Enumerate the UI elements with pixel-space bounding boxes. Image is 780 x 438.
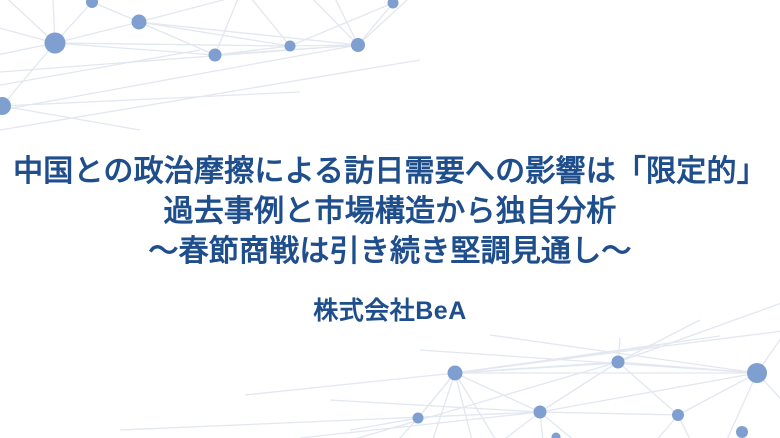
title-line-1: 中国との政治摩擦による訪日需要への影響は「限定的」 — [0, 152, 780, 192]
title-slide: 中国との政治摩擦による訪日需要への影響は「限定的」 過去事例と市場構造から独自分… — [0, 0, 780, 438]
subtitle: 株式会社BeA — [0, 295, 780, 327]
slide-text-stack: 中国との政治摩擦による訪日需要への影響は「限定的」 過去事例と市場構造から独自分… — [0, 0, 780, 438]
title-line-3: 〜春節商戦は引き続き堅調見通し〜 — [0, 232, 780, 272]
title-line-2: 過去事例と市場構造から独自分析 — [0, 192, 780, 232]
company-name: 株式会社BeA — [0, 295, 780, 327]
page-title: 中国との政治摩擦による訪日需要への影響は「限定的」 過去事例と市場構造から独自分… — [0, 152, 780, 272]
